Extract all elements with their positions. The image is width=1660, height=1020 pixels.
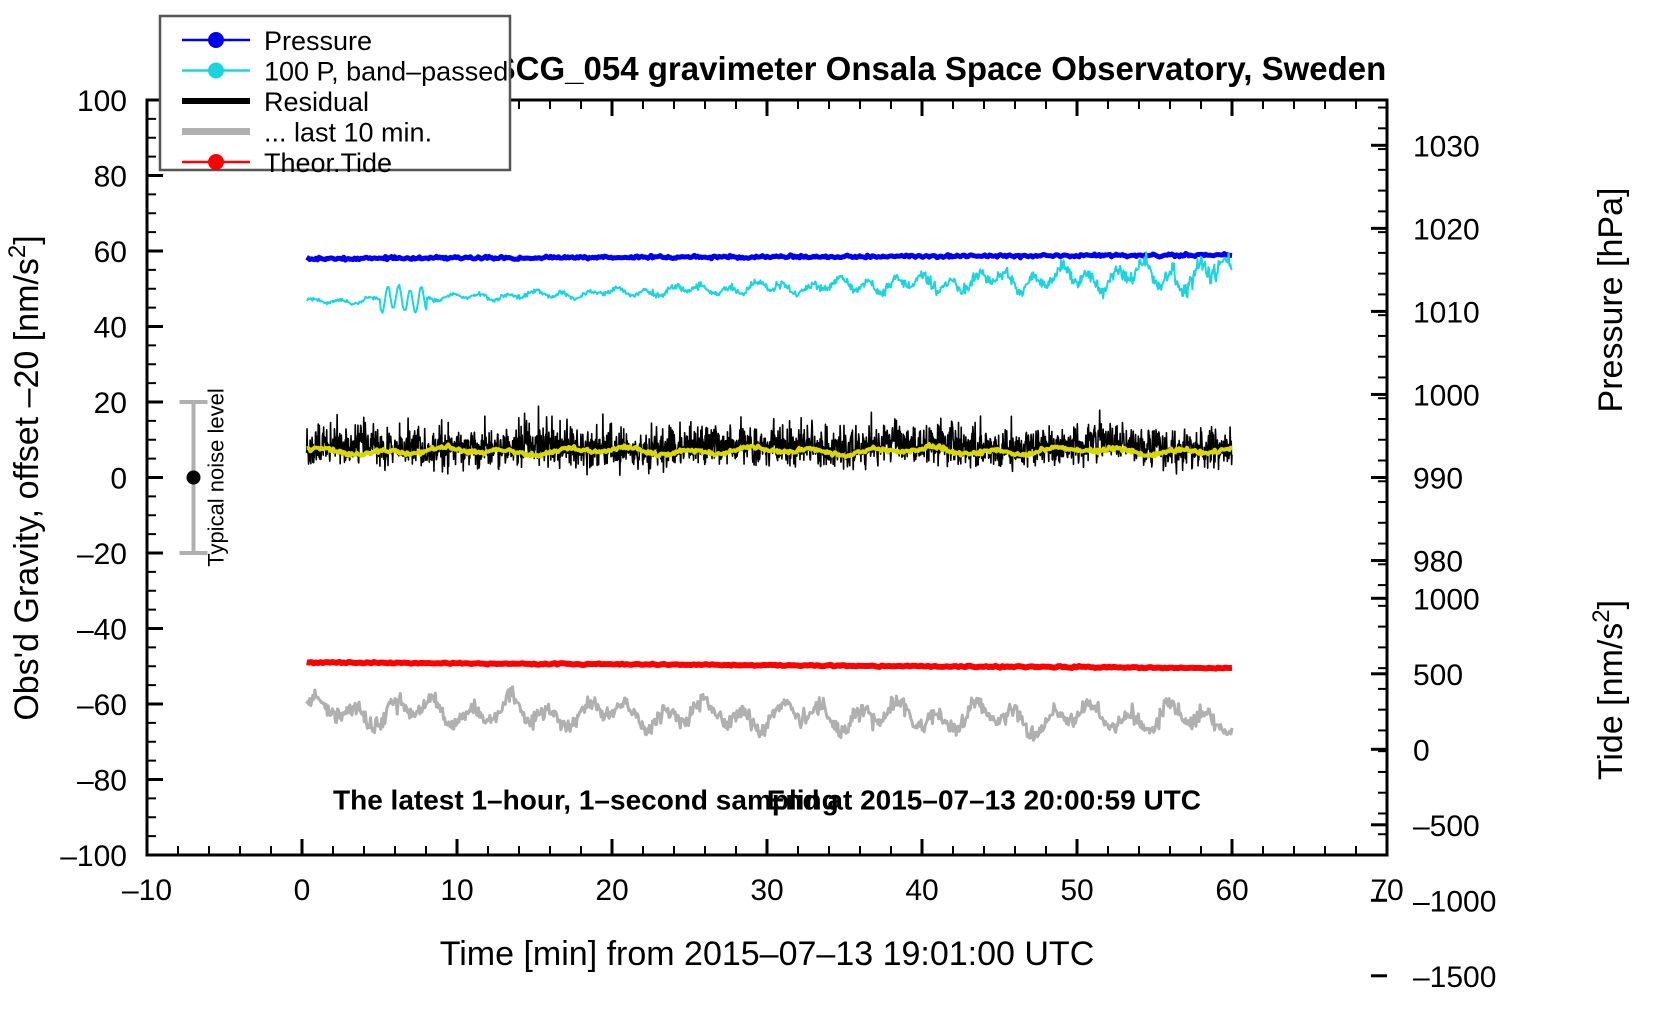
tide-tick-label: –1000 <box>1413 885 1496 918</box>
x-tick-label: 40 <box>905 874 938 907</box>
legend-label-theor-tide: Theor.Tide <box>264 148 392 178</box>
legend-marker-theor-tide <box>208 154 224 170</box>
chart-canvas: –10010203040506070 100806040200–20–40–60… <box>0 0 1660 1020</box>
y-axis-tick-labels: 100806040200–20–40–60–80–100 <box>60 85 127 873</box>
x-axis-ticks <box>147 100 1387 855</box>
plot-frame <box>147 100 1387 855</box>
right-axis-ticks <box>1371 108 1387 976</box>
right-pressure-axis-title: Pressure [hPa] <box>1592 188 1630 413</box>
pressure-tick-label: 1010 <box>1413 296 1480 329</box>
trace-theor-tide <box>307 662 1232 669</box>
y-axis-ticks <box>147 100 163 855</box>
y-tick-label: 80 <box>94 161 127 194</box>
right-pressure-tick-labels: 1030102010101000990980 <box>1413 130 1480 578</box>
tide-tick-label: 0 <box>1413 734 1430 767</box>
end-time-note: End at 2015–07–13 20:00:59 UTC <box>767 785 1201 816</box>
x-tick-label: 10 <box>440 874 473 907</box>
gravimeter-plot-page: –10010203040506070 100806040200–20–40–60… <box>0 0 1660 1020</box>
x-axis-title: Time [min] from 2015–07–13 19:01:00 UTC <box>440 935 1095 973</box>
x-tick-label: –10 <box>122 874 172 907</box>
trace-pressure <box>307 253 1232 260</box>
trace-100-p-band-passed <box>307 252 1232 313</box>
x-tick-label: 20 <box>595 874 628 907</box>
legend-label-last-10-min: ... last 10 min. <box>264 118 432 148</box>
y-tick-label: 40 <box>94 312 127 345</box>
y-tick-label: –60 <box>77 689 127 722</box>
plot-annotations: The latest 1–hour, 1–second samplingEnd … <box>333 785 1201 816</box>
noise-center-dot <box>187 471 201 485</box>
tide-tick-label: 1000 <box>1413 583 1480 616</box>
legend-label-pressure: Pressure <box>264 26 372 56</box>
y-tick-label: –40 <box>77 614 127 647</box>
tide-tick-label: 500 <box>1413 659 1463 692</box>
x-tick-label: 30 <box>750 874 783 907</box>
y-axis-title: Obs'd Gravity, offset –20 [nm/s2] <box>4 235 47 720</box>
plot-title: SCG_054 gravimeter Onsala Space Observat… <box>494 50 1387 87</box>
y-tick-label: 0 <box>110 463 127 496</box>
legend-label-residual: Residual <box>264 87 369 117</box>
y-tick-label: –20 <box>77 538 127 571</box>
legend-marker-100-p-band-passed <box>208 63 224 79</box>
tide-tick-label: –1500 <box>1413 961 1496 994</box>
legend-marker-pressure <box>208 32 224 48</box>
y-tick-label: 20 <box>94 387 127 420</box>
y-tick-label: 100 <box>77 85 127 118</box>
sampling-note: The latest 1–hour, 1–second sampling <box>333 785 839 816</box>
x-tick-label: 50 <box>1060 874 1093 907</box>
y-tick-label: 60 <box>94 236 127 269</box>
pressure-tick-label: 1030 <box>1413 130 1480 163</box>
legend[interactable]: Pressure100 P, band–passedResidual... la… <box>160 16 510 178</box>
x-tick-label: 70 <box>1370 874 1403 907</box>
right-tide-tick-labels: 10005000–500–1000–1500 <box>1413 583 1496 994</box>
trace-last-10-min <box>307 687 1232 741</box>
data-traces <box>307 252 1232 740</box>
trace-residual <box>307 406 1232 475</box>
pressure-tick-label: 990 <box>1413 463 1463 496</box>
right-tide-axis-title: Tide [nm/s2] <box>1588 600 1631 780</box>
legend-label-100-p-band-passed: 100 P, band–passed <box>264 57 508 87</box>
typical-noise-level-marker: Typical noise level <box>180 388 229 567</box>
pressure-tick-label: 1020 <box>1413 213 1480 246</box>
noise-level-label: Typical noise level <box>204 388 229 567</box>
y-tick-label: –80 <box>77 765 127 798</box>
x-tick-label: 0 <box>294 874 311 907</box>
y-tick-label: –100 <box>60 840 127 873</box>
tide-tick-label: –500 <box>1413 810 1480 843</box>
x-axis-tick-labels: –10010203040506070 <box>122 874 1404 907</box>
pressure-tick-label: 1000 <box>1413 379 1480 412</box>
x-tick-label: 60 <box>1215 874 1248 907</box>
pressure-tick-label: 980 <box>1413 546 1463 579</box>
